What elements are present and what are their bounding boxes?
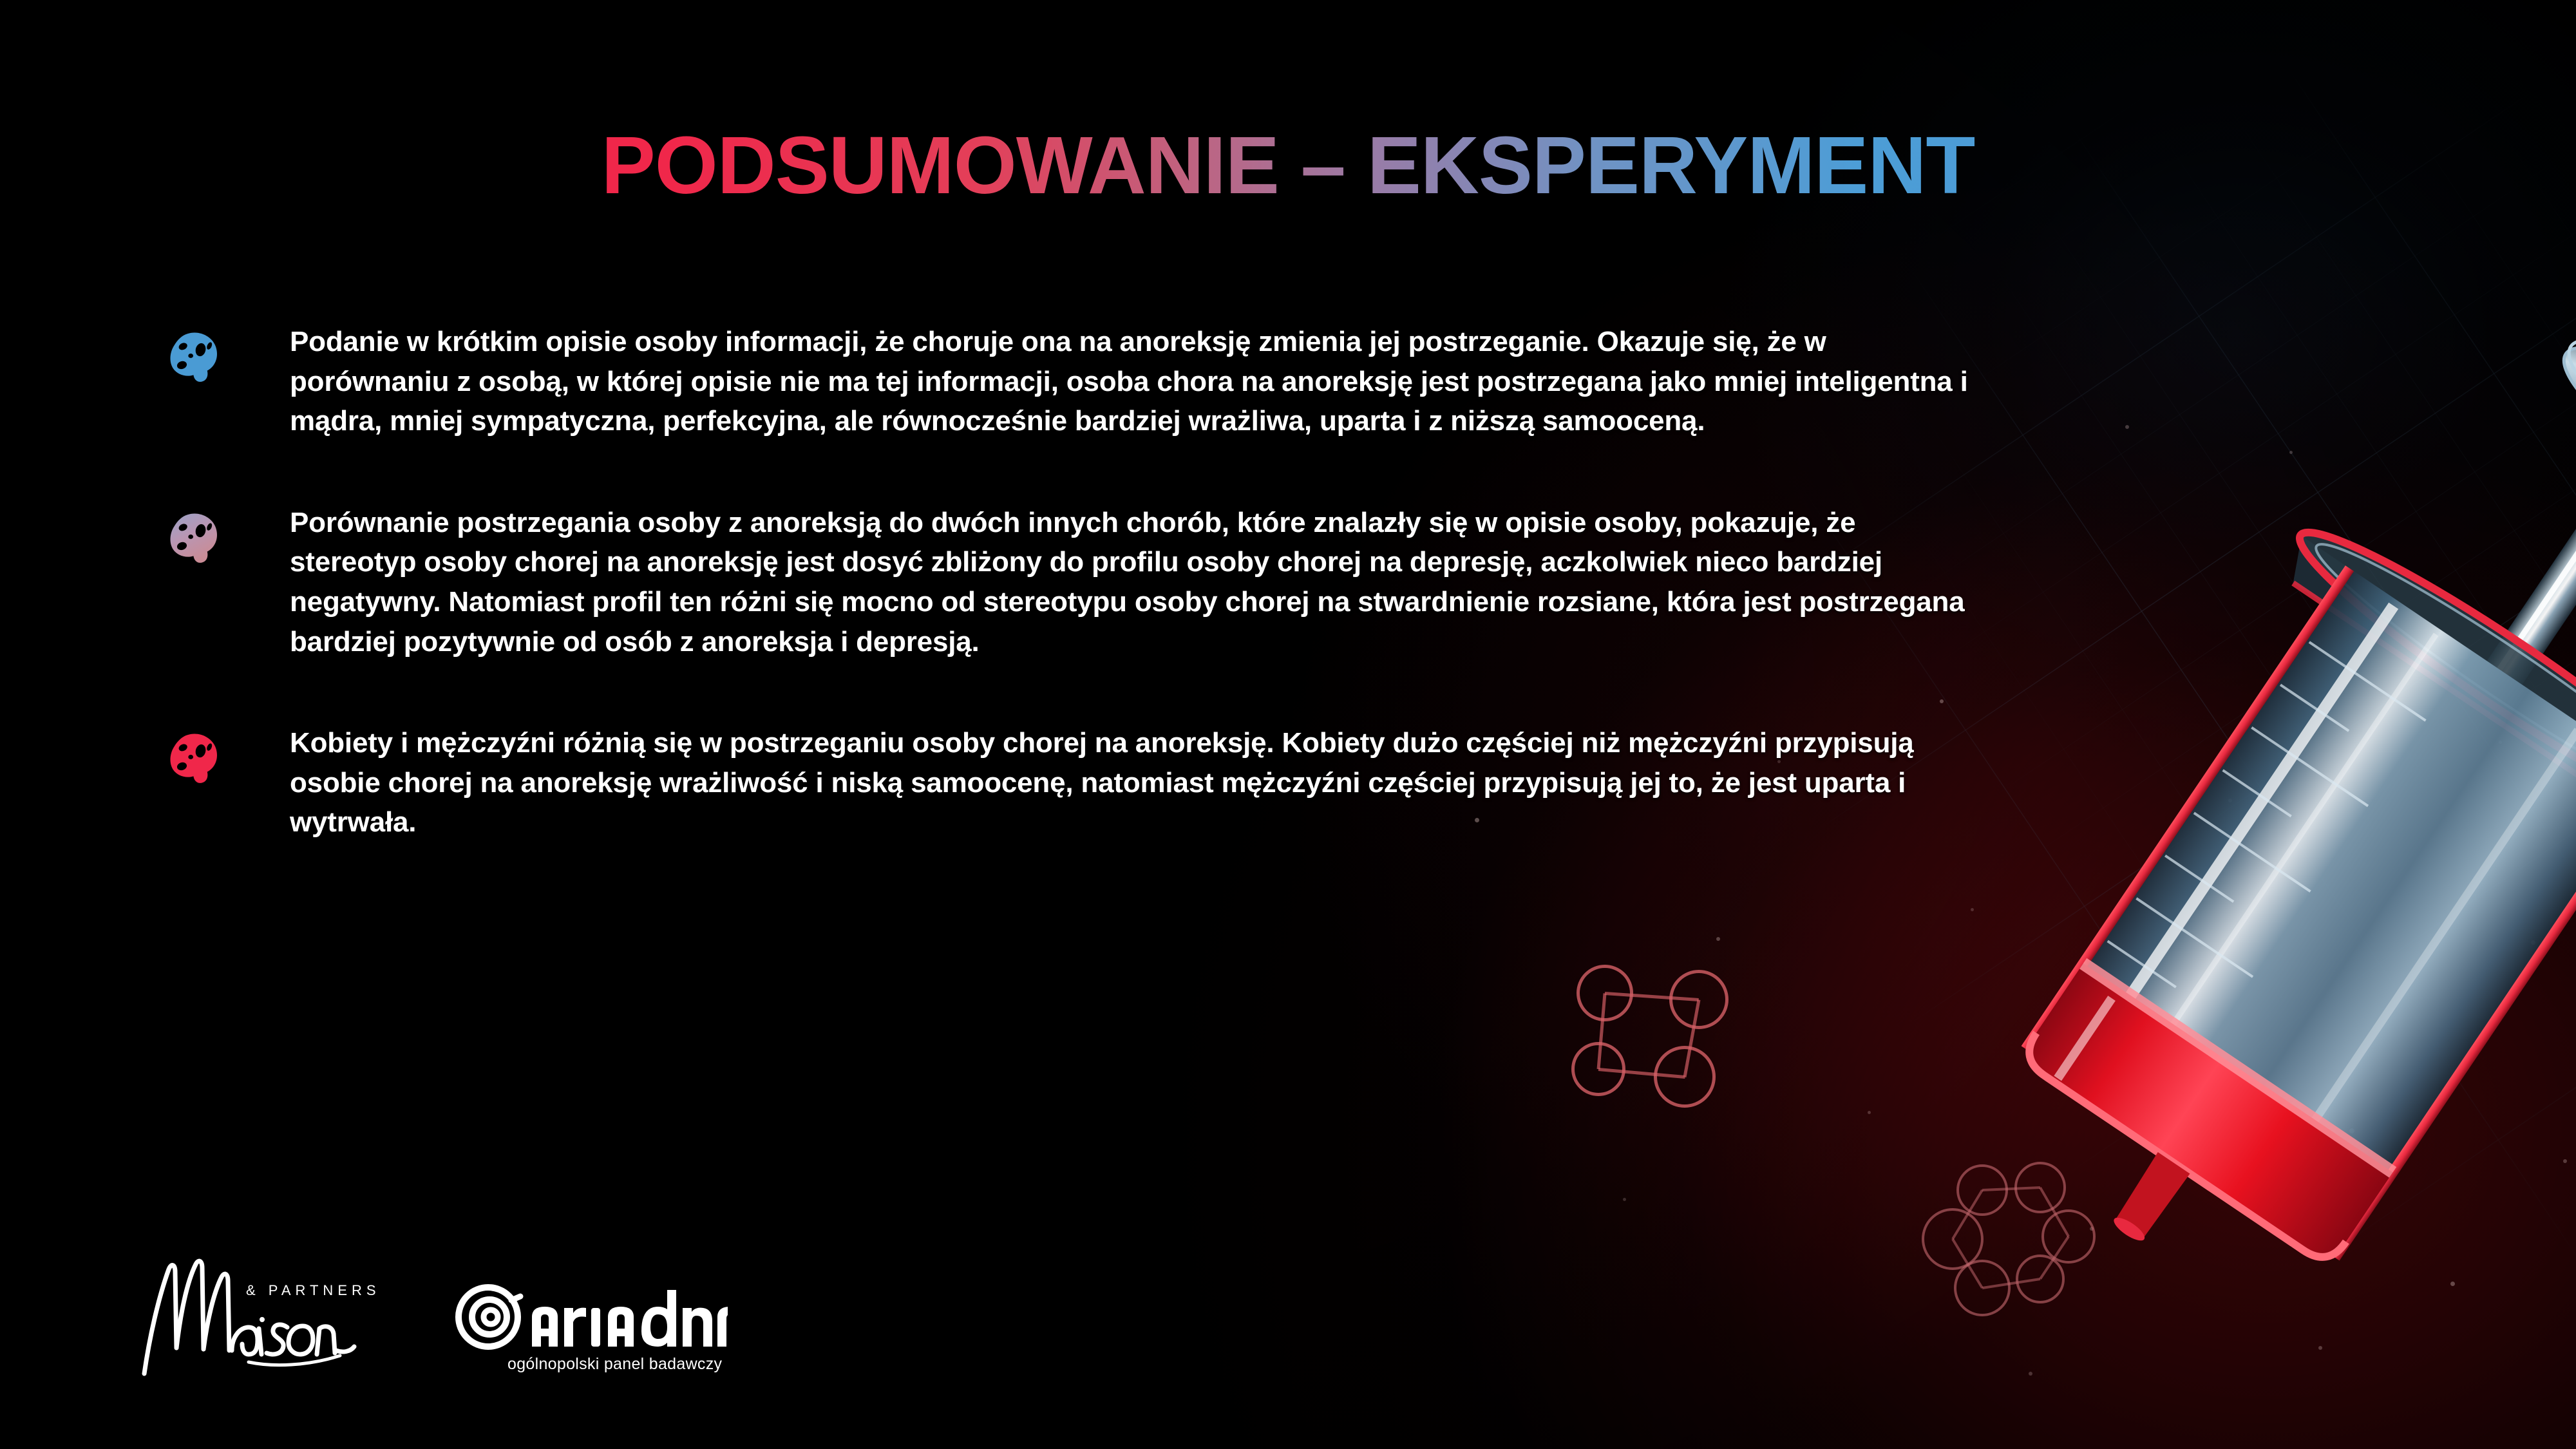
dust-particle [1971, 908, 1974, 911]
molecule-bond [1982, 1278, 2041, 1289]
dust-particle [2396, 567, 2400, 571]
molecule-node [2041, 1209, 2096, 1264]
bullet-text-3: Kobiety i mężczyźni różnią się w postrze… [290, 723, 1984, 842]
molecule-node [1577, 965, 1633, 1021]
molecule-bond [2039, 1187, 2069, 1237]
dust-particle [2090, 1227, 2094, 1231]
molecule-node [1922, 1208, 1984, 1270]
dust-particle [2289, 451, 2293, 454]
dust-particle [2450, 1282, 2455, 1286]
cell-blob-icon [167, 512, 223, 565]
molecule-bond [1951, 1238, 1983, 1289]
cell-blob-icon [167, 732, 223, 785]
molecule-bond [1597, 993, 1607, 1069]
maison-partners-label: & PARTNERS [246, 1282, 381, 1299]
bullet-text-2: Porównanie postrzegania osoby z anoreksj… [290, 503, 1984, 661]
molecule-bond [1605, 992, 1699, 1001]
bullet-item-1: Podanie w krótkim opisie osoby informacj… [167, 322, 1984, 441]
molecule-bond [1951, 1189, 1983, 1240]
bullet-item-3: Kobiety i mężczyźni różnią się w postrze… [167, 723, 1984, 842]
molecule-node [1571, 1042, 1625, 1096]
molecule-node [2016, 1255, 2065, 1303]
ariadna-logo: ogólnopolski panel badawczy [451, 1274, 728, 1371]
summary-bullet-list: Podanie w krótkim opisie osoby informacj… [167, 322, 1984, 904]
molecule-node [1954, 1260, 2011, 1316]
ariadna-tagline: ogólnopolski panel badawczy [507, 1355, 722, 1374]
footer-logos: & PARTNERS [135, 1253, 728, 1381]
molecule-bond [1598, 1068, 1685, 1079]
molecule-node [1669, 970, 1728, 1029]
slide-title: PODSUMOWANIE – EKSPERYMENT [0, 122, 2576, 209]
dust-particle [2318, 1346, 2322, 1350]
molecule-node [1654, 1046, 1716, 1108]
dust-particle [2177, 1030, 2181, 1035]
dust-particle [1868, 1111, 1871, 1114]
molecule-square-icon [1558, 960, 1752, 1133]
dust-particle [2228, 799, 2232, 802]
molecule-bond [1683, 999, 1701, 1077]
bullet-item-2: Porównanie postrzegania osoby z anoreksj… [167, 503, 1984, 661]
slide-canvas: PODSUMOWANIE – EKSPERYMENT Podanie w kró… [0, 0, 2576, 1449]
dust-particle [2563, 1159, 2567, 1163]
syringe-illustration [2048, 361, 2576, 1327]
cell-blob-icon [167, 331, 223, 384]
dust-particle [2029, 1372, 2032, 1376]
molecule-bond [1982, 1186, 2040, 1191]
dust-particle [2125, 425, 2129, 429]
molecule-node [1956, 1164, 2008, 1216]
dust-particle [1716, 937, 1720, 941]
dust-particle [2531, 940, 2535, 945]
dust-particle [2499, 741, 2502, 744]
dust-particle [1623, 1198, 1626, 1201]
maison-logo: & PARTNERS [135, 1253, 374, 1381]
bullet-text-1: Podanie w krótkim opisie osoby informacj… [290, 322, 1984, 441]
molecule-bond [2039, 1236, 2069, 1280]
molecule-node [2014, 1162, 2066, 1213]
dust-particle [2349, 1128, 2354, 1133]
molecule-hexring-icon [1906, 1153, 2093, 1333]
